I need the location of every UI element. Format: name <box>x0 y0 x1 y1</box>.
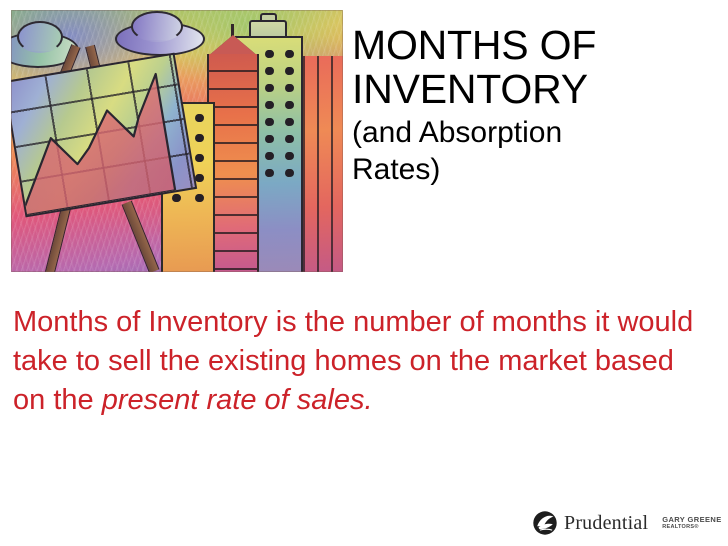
body-text-italic: present rate of sales. <box>102 384 373 416</box>
title-line-2: INVENTORY <box>352 68 712 112</box>
prudential-rock-icon <box>532 510 558 536</box>
prudential-wordmark: Prudential <box>564 512 648 535</box>
prudential-logo: Prudential <box>532 510 648 536</box>
gary-greene-realtors-label: REALTORS® <box>662 525 721 531</box>
subtitle-line-1: (and Absorption <box>352 116 712 150</box>
gary-greene-name: GARY GREENE <box>662 516 721 524</box>
slide: MONTHS OF INVENTORY (and Absorption Rate… <box>0 0 728 546</box>
title-line-1: MONTHS OF <box>352 24 712 68</box>
easel-chart-board <box>11 53 197 218</box>
gary-greene-logo: GARY GREENE REALTORS® <box>662 516 721 531</box>
cityscape-chart-artwork <box>11 10 343 272</box>
footer-logos: Prudential GARY GREENE REALTORS® <box>532 505 722 541</box>
page-title: MONTHS OF INVENTORY (and Absorption Rate… <box>352 24 712 187</box>
cloud-center-icon <box>115 22 205 56</box>
subtitle-line-2: Rates) <box>352 153 712 187</box>
chart-zigzag-series <box>11 55 195 215</box>
body-paragraph: Months of Inventory is the number of mon… <box>13 303 703 420</box>
